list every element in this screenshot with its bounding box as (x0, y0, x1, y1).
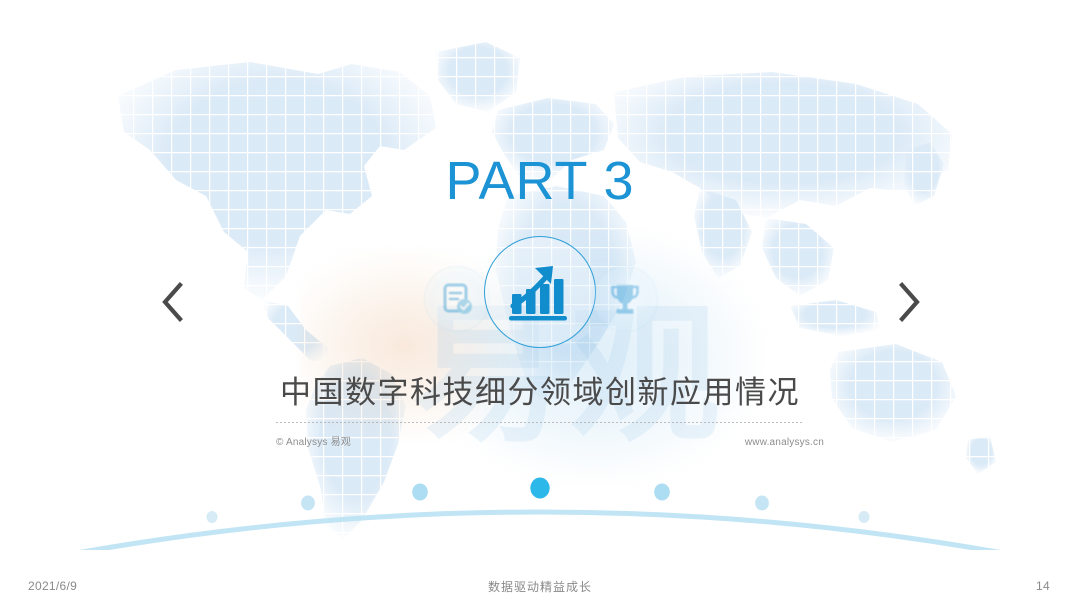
progress-dot[interactable] (206, 511, 217, 523)
bar-chart-growth-icon (484, 236, 596, 348)
footer-page-number: 14 (1036, 579, 1050, 593)
slide-footer: 2021/6/9 数据驱动精益成长 14 (0, 564, 1080, 608)
trophy-icon (588, 262, 662, 336)
document-check-icon (420, 262, 494, 336)
arc-line (60, 512, 1020, 550)
progress-dot[interactable] (654, 484, 670, 501)
progress-dot[interactable] (755, 496, 769, 511)
page-subtitle: 中国数字科技细分领域创新应用情况 (0, 372, 1080, 414)
slide-canvas: 易观 PART 3 (0, 0, 1080, 608)
progress-dots (206, 478, 869, 524)
website-link[interactable]: www.analysys.cn (745, 436, 824, 450)
progress-arc (0, 460, 1080, 550)
divider (276, 422, 804, 423)
icon-cluster (0, 236, 1080, 364)
progress-dot[interactable] (412, 484, 428, 501)
page-title: PART 3 (0, 150, 1080, 212)
progress-dot-active[interactable] (530, 478, 549, 499)
progress-dot[interactable] (301, 496, 315, 511)
copyright-text: © Analysys 易观 (276, 436, 351, 450)
footer-title: 数据驱动精益成长 (0, 578, 1080, 595)
progress-dot[interactable] (858, 511, 869, 523)
credit-row: © Analysys 易观 www.analysys.cn (276, 436, 824, 450)
